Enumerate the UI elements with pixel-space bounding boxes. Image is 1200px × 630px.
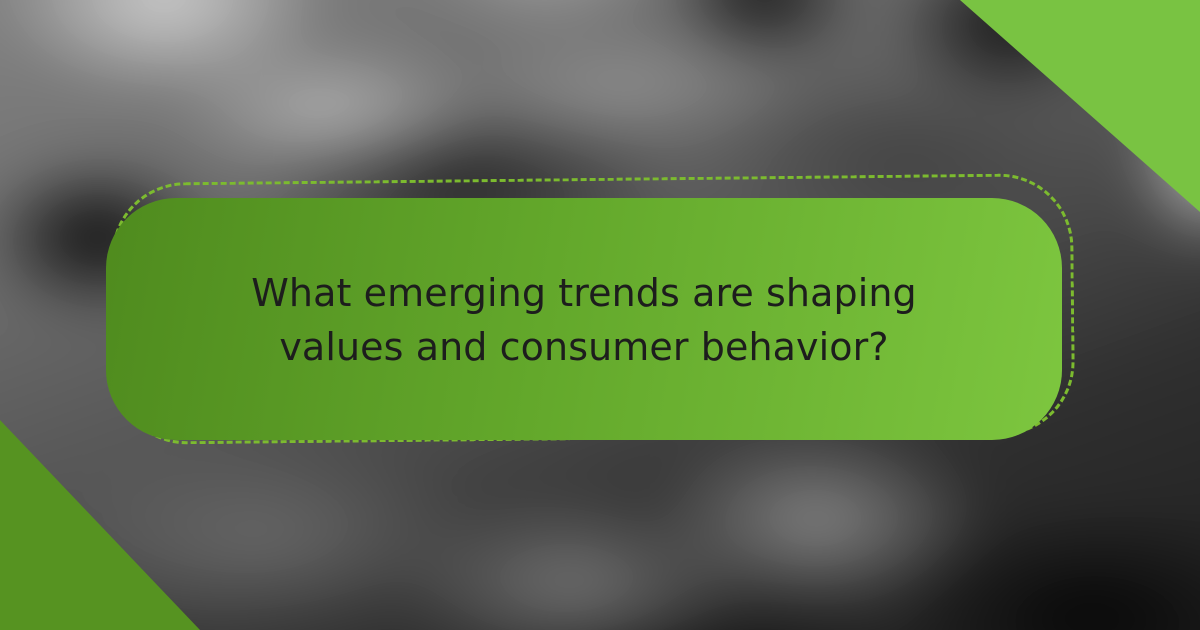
headline-card: What emerging trends are shaping values …: [106, 198, 1062, 440]
social-card-canvas: What emerging trends are shaping values …: [0, 0, 1200, 630]
page-title: What emerging trends are shaping values …: [184, 267, 984, 375]
